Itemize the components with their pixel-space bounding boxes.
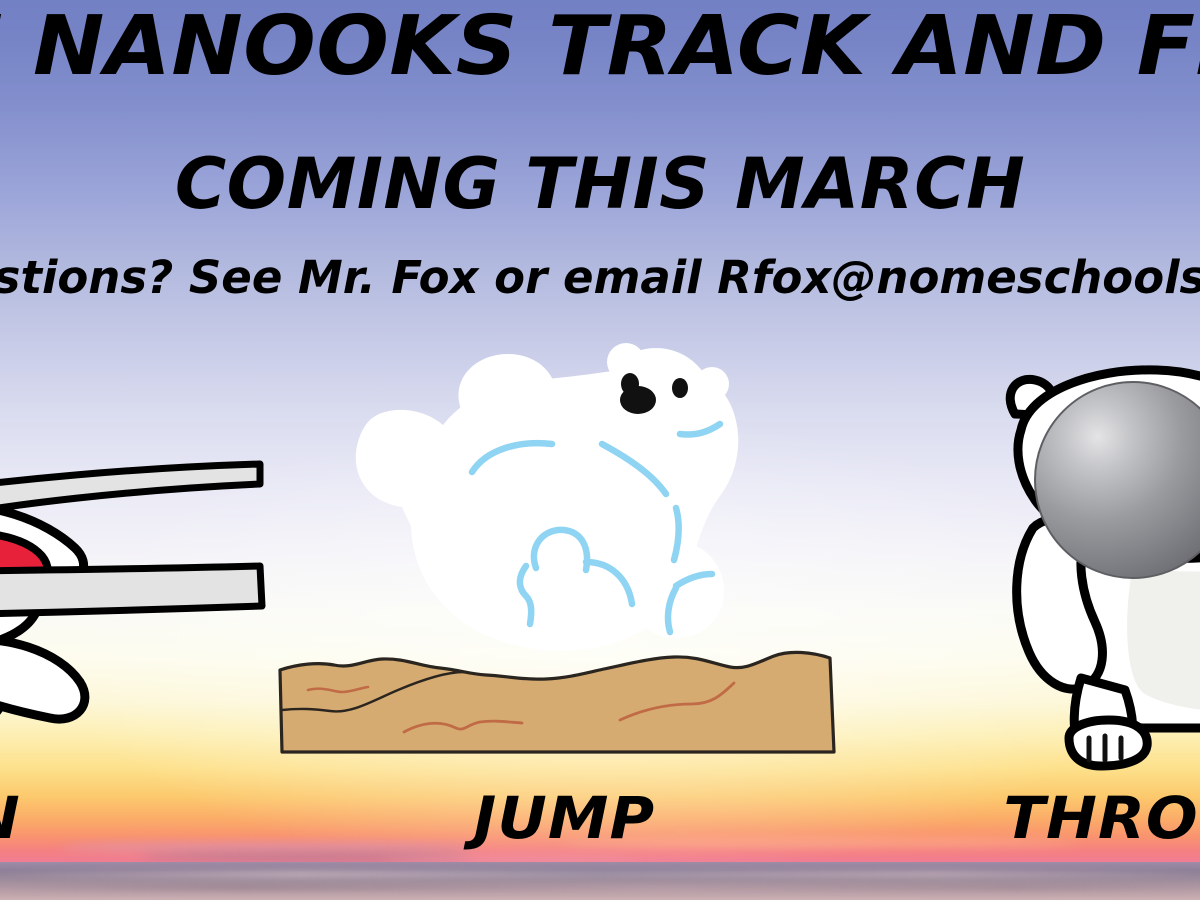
ocean-glint xyxy=(0,870,1200,878)
contact-info-line: stions? See Mr. Fox or email Rfox@nomesc… xyxy=(0,252,1200,304)
jumping-bear-icon xyxy=(340,340,760,680)
running-bear-figure xyxy=(0,380,250,780)
subtitle: COMING THIS MARCH xyxy=(0,146,1200,222)
page-title: ME NANOOKS TRACK AND FIEL xyxy=(0,3,1200,91)
running-bear-icon xyxy=(0,380,250,780)
jumping-bear-figure xyxy=(340,340,760,680)
track-and-field-poster: ME NANOOKS TRACK AND FIEL COMING THIS MA… xyxy=(0,0,1200,900)
throwing-bear-figure xyxy=(985,360,1200,780)
ocean-horizon-band xyxy=(0,862,1200,900)
ocean-glint xyxy=(0,884,1200,891)
event-label-throw: THRO xyxy=(1003,788,1198,848)
throwing-bear-icon xyxy=(985,360,1200,780)
event-label-jump: JUMP xyxy=(474,788,656,848)
event-label-run: N xyxy=(0,788,21,848)
